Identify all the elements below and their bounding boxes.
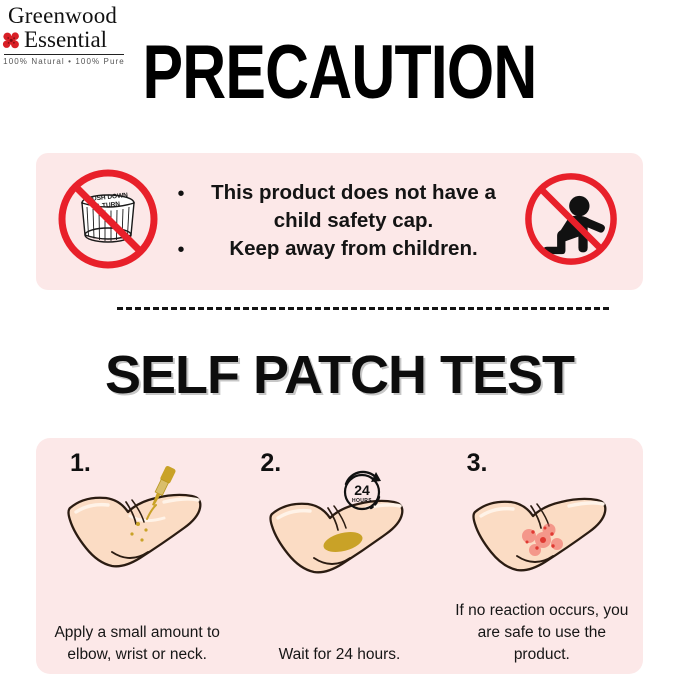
no-children-icon: [521, 169, 621, 274]
arm-with-24-hour-clock-icon: 24 HOURS: [238, 462, 440, 590]
page-title-precaution: PRECAUTION: [68, 33, 611, 113]
bullet-marker: •: [172, 179, 190, 208]
arm-with-rash-icon: [441, 462, 643, 590]
step-caption: Apply a small amount to elbow, wrist or …: [44, 622, 230, 666]
precaution-bullet-2: Keep away from children.: [190, 235, 517, 263]
patch-test-step-1: 1.: [36, 438, 238, 674]
arm-with-dropper-icon: [36, 462, 238, 590]
step-caption: If no reaction occurs, you are safe to u…: [449, 600, 635, 666]
step-caption: Wait for 24 hours.: [246, 644, 432, 666]
patch-test-step-3: 3.: [441, 438, 643, 674]
brand-name-line1: Greenwood: [2, 4, 126, 27]
patch-test-steps-panel: 1.: [36, 438, 643, 674]
bullet-marker: •: [172, 235, 190, 264]
badge-hours-unit: HOURS: [352, 498, 372, 504]
flower-icon: [2, 31, 21, 50]
page-title-self-patch-test: SELF PATCH TEST: [0, 345, 679, 405]
precaution-bullet-list: • This product does not have a child saf…: [162, 179, 521, 264]
no-child-safety-cap-icon: PUSH DOWN & TURN: [54, 165, 162, 278]
section-divider: [117, 307, 609, 310]
precaution-bullet-1: This product does not have a child safet…: [190, 179, 517, 235]
patch-test-step-2: 2. 24 HOURS Wait for 24 hou: [238, 438, 440, 674]
badge-hours-value: 24: [355, 482, 371, 498]
list-item: • This product does not have a child saf…: [172, 179, 517, 235]
list-item: • Keep away from children.: [172, 235, 517, 264]
precaution-panel: PUSH DOWN & TURN • This product does not…: [36, 153, 643, 290]
